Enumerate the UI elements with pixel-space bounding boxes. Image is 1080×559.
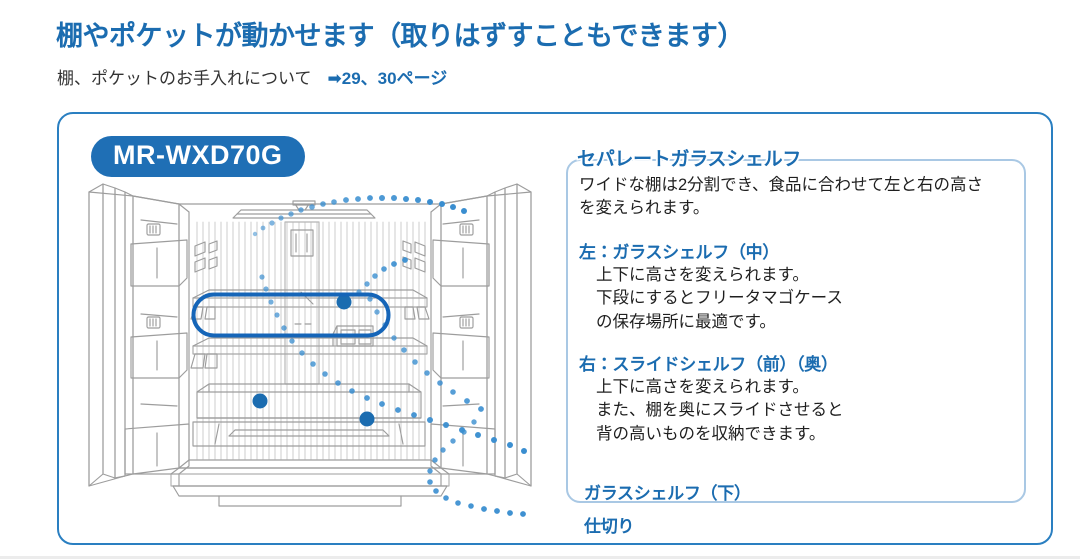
- panel-intro-text: ワイドな棚は2分割でき、食品に合わせて左と右の高さ を変えられます。: [579, 174, 983, 221]
- arrow-right-icon: ➡: [328, 69, 342, 88]
- subtitle-text: 棚、ポケットのお手入れについて: [57, 69, 312, 88]
- right-shelf-description: 上下に高さを変えられます。 また、棚を奥にスライドさせると 背の高いものを収納で…: [579, 376, 844, 446]
- intro-line-1: ワイドな棚は2分割でき、食品に合わせて左と右の高さ: [579, 174, 983, 197]
- right-line-3: 背の高いものを収納できます。: [579, 423, 844, 446]
- page-subtitle: 棚、ポケットのお手入れについて➡29、30ページ: [57, 64, 447, 89]
- refrigerator-illustration: [69, 174, 569, 524]
- model-name-badge: MR-WXD70G: [91, 136, 305, 177]
- callout-label-divider: 仕切り: [584, 512, 634, 537]
- right-shelf-heading: 右：スライドシェルフ（前）（奥）: [579, 350, 838, 375]
- callout-label-glass-shelf-lower: ガラスシェルフ（下）: [584, 479, 751, 504]
- left-line-2: 下段にするとフリータマゴケース: [579, 287, 843, 310]
- page-reference: ➡29、30ページ: [328, 69, 448, 88]
- shelf-highlight-outline: [191, 292, 391, 338]
- intro-line-2: を変えられます。: [579, 197, 983, 220]
- left-shelf-heading: 左：ガラスシェルフ（中）: [579, 238, 779, 263]
- left-line-3: の保存場所に最適です。: [579, 311, 843, 334]
- page-title: 棚やポケットが動かせます（取りはずすこともできます）: [56, 14, 744, 53]
- right-line-1: 上下に高さを変えられます。: [579, 376, 844, 399]
- right-line-2: また、棚を奥にスライドさせると: [579, 399, 844, 422]
- left-line-1: 上下に高さを変えられます。: [579, 264, 843, 287]
- left-shelf-description: 上下に高さを変えられます。 下段にするとフリータマゴケース の保存場所に最適です…: [579, 264, 843, 334]
- panel-heading: セパレートガラスシェルフ: [577, 144, 801, 171]
- figure-container: MR-WXD70G: [57, 112, 1053, 545]
- reference-pages: 29、30ページ: [342, 69, 447, 88]
